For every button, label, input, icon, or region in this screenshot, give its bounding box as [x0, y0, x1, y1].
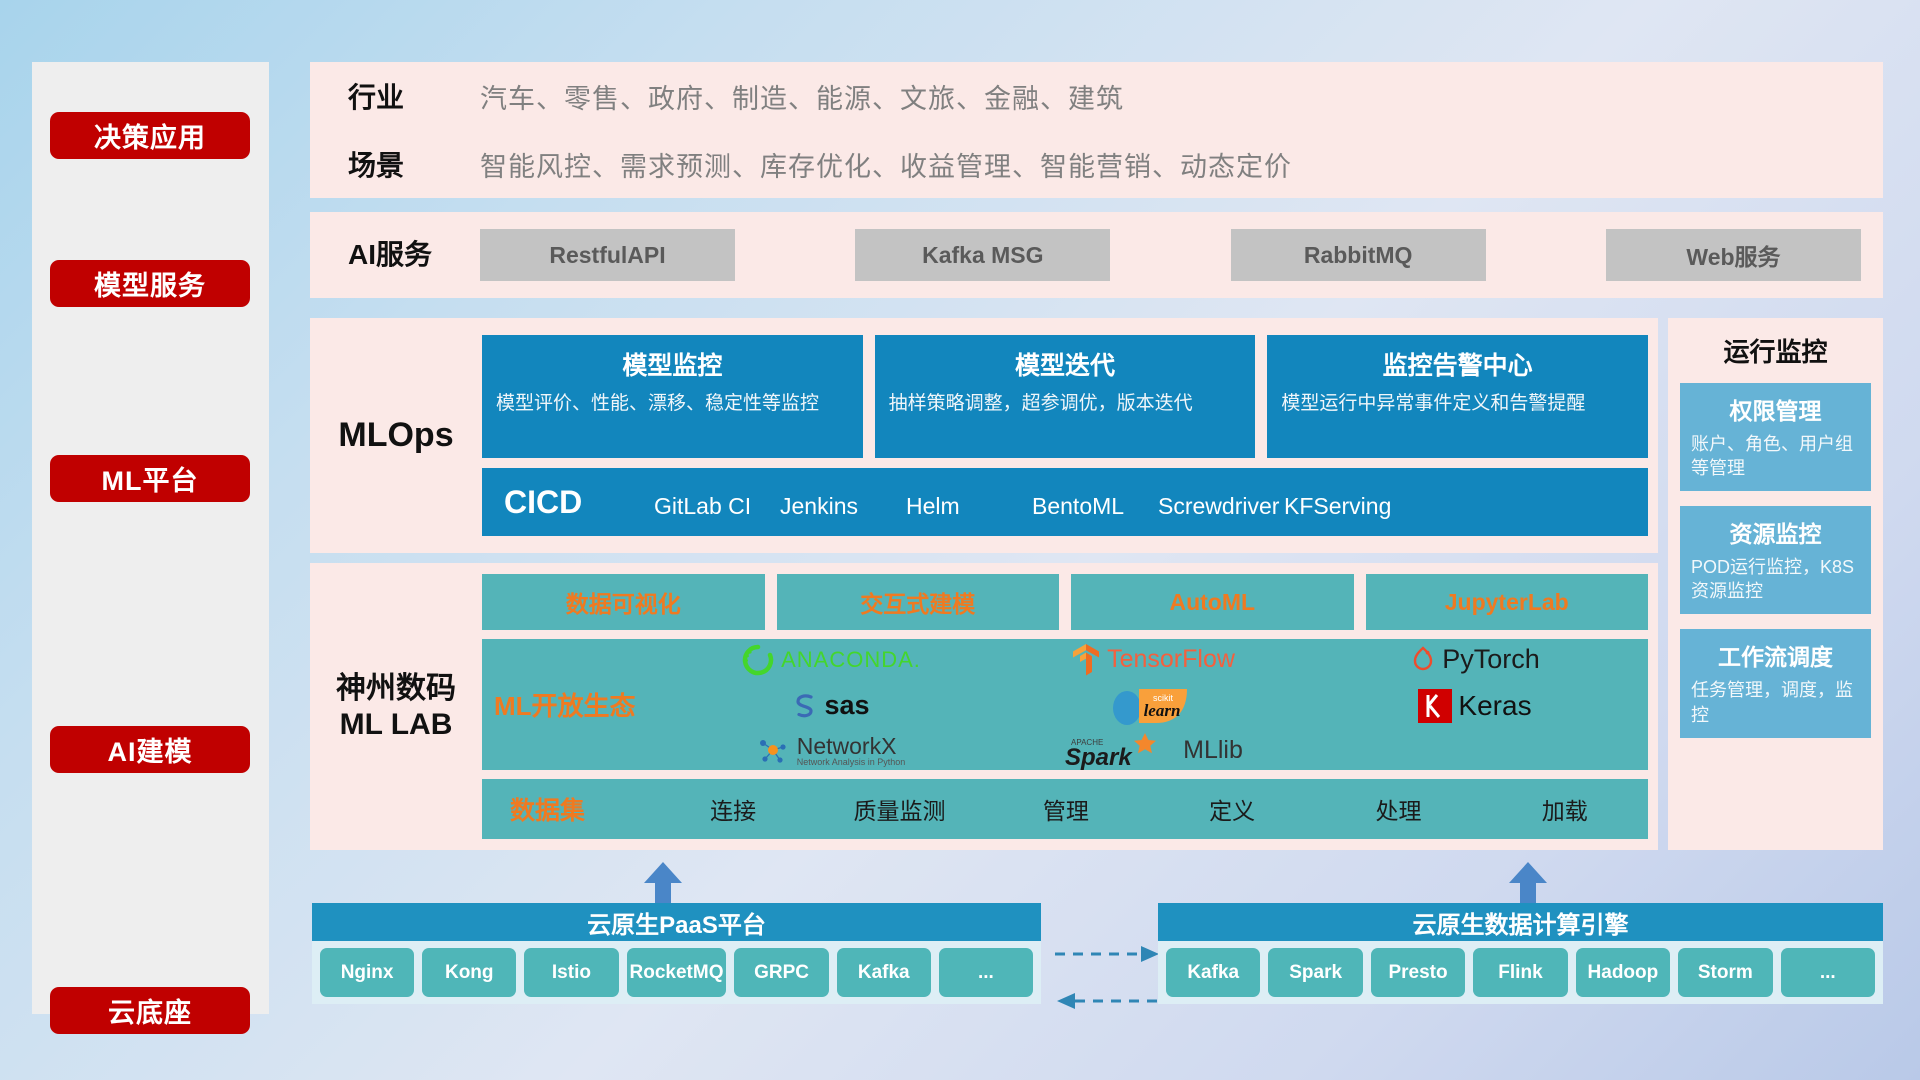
- cloud-compute-title: 云原生数据计算引擎: [1158, 903, 1883, 941]
- keras-logo: Keras: [1314, 689, 1636, 723]
- cicd-item-kfserving[interactable]: KFServing: [1284, 495, 1410, 518]
- mlops-band: MLOps 模型监控 模型评价、性能、漂移、稳定性等监控 模型迭代 抽样策略调整…: [310, 318, 1658, 553]
- rail-label: 云底座: [108, 991, 192, 1030]
- layer-rail: 决策应用 模型服务 ML平台 AI建模 云底座: [32, 62, 269, 1014]
- dataset-item-quality[interactable]: 质量监测: [816, 792, 982, 826]
- svg-text:learn: learn: [1144, 701, 1181, 720]
- cicd-title: CICD: [504, 484, 654, 521]
- dataset-title: 数据集: [510, 791, 650, 827]
- scenario-label: 场景: [348, 144, 480, 184]
- cloud-compute-block: 云原生数据计算引擎 Kafka Spark Presto Flink Hadoo…: [1158, 903, 1883, 1004]
- scenario-values: 智能风控、需求预测、库存优化、收益管理、智能营销、动态定价: [480, 145, 1292, 184]
- cicd-item-helm[interactable]: Helm: [906, 495, 1032, 518]
- pytorch-wordmark: PyTorch: [1442, 644, 1540, 675]
- spark-mllib-logo: APACHE Spark MLlib: [992, 729, 1314, 773]
- dataset-row: 数据集 连接 质量监测 管理 定义 处理 加载: [482, 779, 1648, 839]
- paas-chip-kafka[interactable]: Kafka: [837, 948, 931, 997]
- rail-label: 决策应用: [94, 116, 206, 155]
- service-chip-web[interactable]: Web服务: [1606, 229, 1861, 281]
- paas-chip-kong[interactable]: Kong: [422, 948, 516, 997]
- rail-label: 模型服务: [94, 264, 206, 303]
- ml-lab-label-line2: ML LAB: [310, 707, 482, 742]
- card-desc: POD运行监控，K8S资源监控: [1691, 555, 1860, 603]
- card-desc: 模型运行中异常事件定义和告警提醒: [1281, 391, 1634, 416]
- sas-wordmark: sas: [824, 690, 869, 721]
- ml-ecosystem-logo-grid: ANACONDA. TensorFlow: [670, 637, 1636, 773]
- cloud-paas-chip-list: Nginx Kong Istio RocketMQ GRPC Kafka ...: [312, 941, 1041, 1004]
- tool-tab-list: 数据可视化 交互式建模 AutoML JupyterLab: [482, 574, 1648, 630]
- paas-chip-istio[interactable]: Istio: [524, 948, 618, 997]
- compute-chip-hadoop[interactable]: Hadoop: [1576, 948, 1670, 997]
- bidirectional-connector: [1053, 938, 1163, 1022]
- monitor-card-workflow[interactable]: 工作流调度 任务管理，调度，监控: [1680, 629, 1871, 737]
- keras-wordmark: Keras: [1458, 690, 1531, 722]
- cloud-paas-title: 云原生PaaS平台: [312, 903, 1041, 941]
- card-title: 权限管理: [1691, 392, 1860, 426]
- tool-tab-data-visualization[interactable]: 数据可视化: [482, 574, 765, 630]
- monitor-card-permission[interactable]: 权限管理 账户、角色、用户组等管理: [1680, 383, 1871, 491]
- cicd-item-screwdriver[interactable]: Screwdriver: [1158, 495, 1284, 518]
- ml-lab-label: 神州数码 ML LAB: [310, 671, 482, 742]
- mlops-card-model-monitoring[interactable]: 模型监控 模型评价、性能、漂移、稳定性等监控: [482, 335, 863, 458]
- rail-item-model-service[interactable]: 模型服务: [50, 260, 250, 307]
- sas-logo: sas: [670, 690, 992, 721]
- svg-text:Spark: Spark: [1065, 744, 1133, 771]
- networkx-logo: NetworkX Network Analysis in Python: [670, 735, 992, 767]
- scikit-learn-logo: scikit learn: [992, 683, 1314, 729]
- ml-lab-label-line1: 神州数码: [310, 671, 482, 706]
- tensorflow-wordmark: TensorFlow: [1107, 645, 1235, 674]
- tool-tab-automl[interactable]: AutoML: [1071, 574, 1354, 630]
- card-title: 资源监控: [1691, 515, 1860, 549]
- ai-service-band: AI服务 RestfulAPI Kafka MSG RabbitMQ Web服务: [310, 212, 1883, 298]
- anaconda-wordmark: ANACONDA.: [781, 647, 921, 673]
- compute-chip-presto[interactable]: Presto: [1371, 948, 1465, 997]
- monitor-card-resource[interactable]: 资源监控 POD运行监控，K8S资源监控: [1680, 506, 1871, 614]
- cloud-paas-block: 云原生PaaS平台 Nginx Kong Istio RocketMQ GRPC…: [312, 903, 1041, 1004]
- tool-tab-jupyterlab[interactable]: JupyterLab: [1366, 574, 1649, 630]
- diagram-canvas: 决策应用 模型服务 ML平台 AI建模 云底座 行业 汽车、零售、政府、制造、能…: [0, 0, 1920, 1080]
- arrow-left-icon: [1057, 993, 1075, 1009]
- cicd-item-gitlab-ci[interactable]: GitLab CI: [654, 495, 780, 518]
- runtime-monitoring-panel: 运行监控 权限管理 账户、角色、用户组等管理 资源监控 POD运行监控，K8S资…: [1668, 318, 1883, 850]
- rail-item-cloud-base[interactable]: 云底座: [50, 987, 250, 1034]
- ai-modeling-content: 数据可视化 交互式建模 AutoML JupyterLab ML开放生态 A: [482, 574, 1658, 839]
- dataset-item-load[interactable]: 加载: [1482, 792, 1648, 826]
- rail-item-decision-app[interactable]: 决策应用: [50, 112, 250, 159]
- compute-chip-storm[interactable]: Storm: [1678, 948, 1772, 997]
- runtime-monitoring-title: 运行监控: [1680, 332, 1871, 369]
- card-desc: 模型评价、性能、漂移、稳定性等监控: [496, 391, 849, 416]
- mlops-content: 模型监控 模型评价、性能、漂移、稳定性等监控 模型迭代 抽样策略调整，超参调优，…: [482, 335, 1658, 536]
- cloud-compute-chip-list: Kafka Spark Presto Flink Hadoop Storm ..…: [1158, 941, 1883, 1004]
- card-title: 模型迭代: [889, 346, 1242, 382]
- arrow-up-compute-icon: [1506, 861, 1550, 905]
- mlops-card-model-iteration[interactable]: 模型迭代 抽样策略调整，超参调优，版本迭代: [875, 335, 1256, 458]
- networkx-wordmark: NetworkX: [797, 735, 906, 758]
- card-title: 监控告警中心: [1281, 346, 1634, 382]
- industry-label: 行业: [348, 76, 480, 116]
- cicd-row: CICD GitLab CI Jenkins Helm BentoML Scre…: [482, 468, 1648, 536]
- pytorch-logo: PyTorch: [1314, 644, 1636, 675]
- mlops-card-alert-center[interactable]: 监控告警中心 模型运行中异常事件定义和告警提醒: [1267, 335, 1648, 458]
- rail-label: ML平台: [102, 459, 199, 498]
- tool-tab-interactive-modeling[interactable]: 交互式建模: [777, 574, 1060, 630]
- paas-chip-more[interactable]: ...: [939, 948, 1033, 997]
- ai-modeling-band: 神州数码 ML LAB 数据可视化 交互式建模 AutoML JupyterLa…: [310, 563, 1658, 850]
- cicd-item-bentoml[interactable]: BentoML: [1032, 495, 1158, 518]
- card-desc: 任务管理，调度，监控: [1691, 678, 1860, 726]
- card-title: 工作流调度: [1691, 638, 1860, 672]
- paas-chip-rocketmq[interactable]: RocketMQ: [627, 948, 727, 997]
- arrow-right-icon: [1141, 946, 1159, 962]
- paas-chip-nginx[interactable]: Nginx: [320, 948, 414, 997]
- rail-label: AI建模: [108, 730, 193, 769]
- dataset-item-manage[interactable]: 管理: [983, 792, 1149, 826]
- dataset-item-process[interactable]: 处理: [1315, 792, 1481, 826]
- mlops-label: MLOps: [310, 415, 482, 455]
- industry-values: 汽车、零售、政府、制造、能源、文旅、金融、建筑: [480, 77, 1124, 116]
- service-chip-restfulapi[interactable]: RestfulAPI: [480, 229, 735, 281]
- compute-chip-kafka[interactable]: Kafka: [1166, 948, 1260, 997]
- compute-chip-more[interactable]: ...: [1781, 948, 1875, 997]
- ml-ecosystem-row: ML开放生态 ANACONDA.: [482, 639, 1648, 770]
- card-title: 模型监控: [496, 346, 849, 382]
- compute-chip-flink[interactable]: Flink: [1473, 948, 1567, 997]
- paas-chip-grpc[interactable]: GRPC: [734, 948, 828, 997]
- rail-item-ai-modeling[interactable]: AI建模: [50, 726, 250, 773]
- scenario-row: 场景 智能风控、需求预测、库存优化、收益管理、智能营销、动态定价: [310, 130, 1883, 198]
- dataset-item-connect[interactable]: 连接: [650, 792, 816, 826]
- service-chip-kafka-msg[interactable]: Kafka MSG: [855, 229, 1110, 281]
- decision-app-band: 行业 汽车、零售、政府、制造、能源、文旅、金融、建筑 场景 智能风控、需求预测、…: [310, 62, 1883, 198]
- tensorflow-logo: TensorFlow: [992, 643, 1314, 677]
- rail-item-ml-platform[interactable]: ML平台: [50, 455, 250, 502]
- anaconda-logo: ANACONDA.: [670, 643, 992, 677]
- card-desc: 抽样策略调整，超参调优，版本迭代: [889, 391, 1242, 416]
- dataset-item-define[interactable]: 定义: [1149, 792, 1315, 826]
- arrow-up-paas-icon: [641, 861, 685, 905]
- ai-service-label: AI服务: [348, 238, 480, 271]
- ai-service-chip-list: RestfulAPI Kafka MSG RabbitMQ Web服务: [480, 229, 1883, 281]
- industry-row: 行业 汽车、零售、政府、制造、能源、文旅、金融、建筑: [310, 62, 1883, 130]
- card-desc: 账户、角色、用户组等管理: [1691, 432, 1860, 480]
- ml-ecosystem-label: ML开放生态: [494, 686, 670, 723]
- service-chip-rabbitmq[interactable]: RabbitMQ: [1231, 229, 1486, 281]
- compute-chip-spark[interactable]: Spark: [1268, 948, 1362, 997]
- cicd-item-jenkins[interactable]: Jenkins: [780, 495, 906, 518]
- mlops-card-list: 模型监控 模型评价、性能、漂移、稳定性等监控 模型迭代 抽样策略调整，超参调优，…: [482, 335, 1648, 458]
